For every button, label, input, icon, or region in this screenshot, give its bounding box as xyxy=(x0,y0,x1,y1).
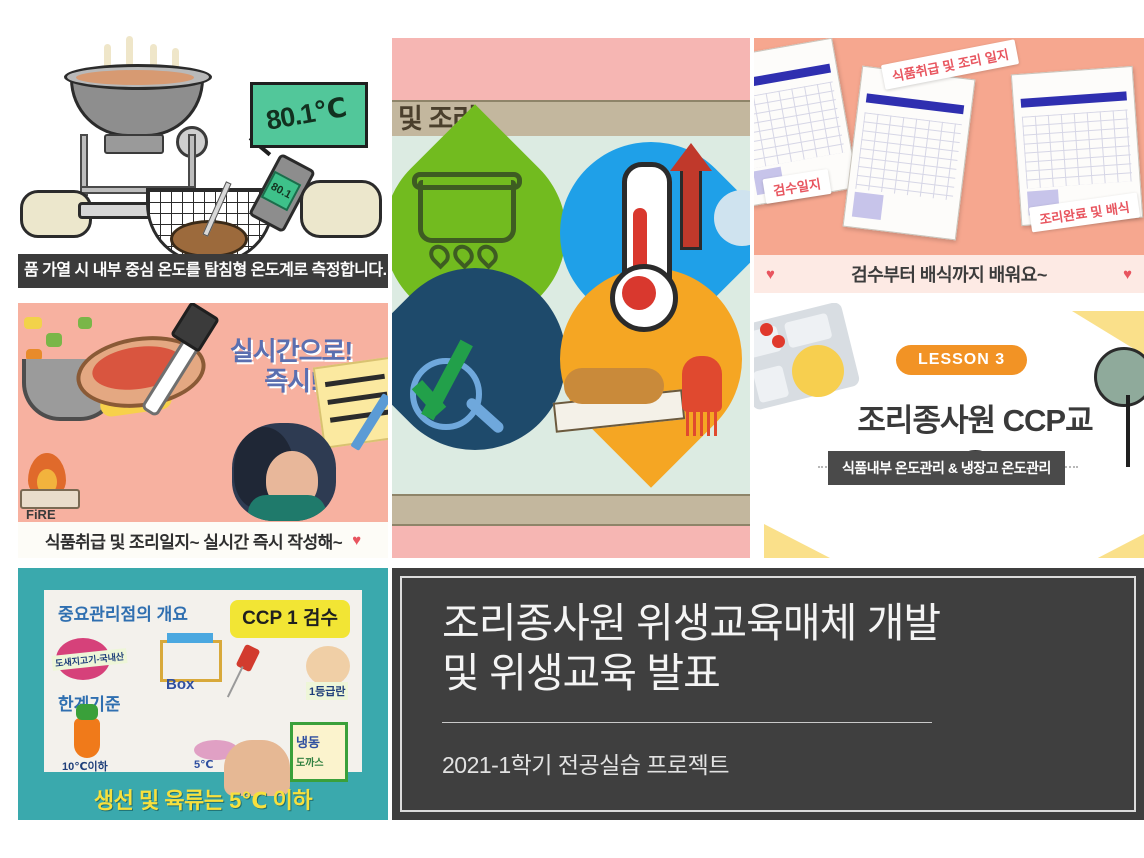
document-table-rows xyxy=(855,112,962,200)
panel-thermometer-illustration: 80.1 80.1℃ 품 가열 시 내부 중심 온도를 탐침형 온도계로 측정합… xyxy=(18,30,388,288)
dress-shape xyxy=(248,495,326,521)
carrot-icon xyxy=(74,718,100,758)
poster-note-box: Box xyxy=(166,676,194,693)
document-note-block xyxy=(852,191,884,220)
document-table-rows xyxy=(754,81,845,168)
tray-cell xyxy=(784,313,833,349)
title-divider xyxy=(442,722,932,723)
heart-icon: ♥ xyxy=(352,532,361,549)
panel-realtime-log: 실시간으로! 즉시! FiRE 식품취급 및 조리일지~ 실시간 즉시 작성해~… xyxy=(18,303,388,558)
page-title: 조리종사원 위생교육매체 개발 및 위생교육 발표 xyxy=(442,598,1102,698)
panel-documents: 식품취급 및 조리 일지 검수일지 조리완료 및 배식 ♥ 검수부터 배식까지 … xyxy=(754,38,1144,293)
poster-note-grade1-egg: 1등급란 xyxy=(306,682,348,700)
heart-icon: ♥ xyxy=(1123,266,1132,283)
tomato-icon xyxy=(772,335,785,348)
poster-note-temp-10: 10℃이하 xyxy=(62,758,108,774)
frozen-pack-icon xyxy=(290,722,348,782)
panel-center-graphic: 및 조리 xyxy=(392,38,750,558)
document-table-rows xyxy=(1022,109,1132,188)
tomato-icon xyxy=(760,323,773,336)
fire-label: FiRE xyxy=(26,507,56,522)
page-subtitle: 2021-1학기 전공실습 프로젝트 xyxy=(442,746,729,780)
panel-caption-text: 식품취급 및 조리일지~ 실시간 즉시 작성해~ xyxy=(45,528,342,553)
steaming-pot-icon xyxy=(418,180,516,243)
memo-line xyxy=(325,374,385,387)
poster-heading: 중요관리점의 개요 xyxy=(58,600,188,625)
sage-pan-icon xyxy=(1094,347,1144,407)
panel-handwritten-poster: 중요관리점의 개요 CCP 1 검수 도새지고기-국내산 Box 1등급란 한계… xyxy=(18,568,388,820)
center-header-text: 및 조리 xyxy=(392,102,750,136)
page-title-line-2: 및 위생교육 발표 xyxy=(442,648,1102,698)
document-sheet xyxy=(843,66,976,241)
panel-lesson3: LESSON 3 조리종사원 CCP교육 식품내부 온도관리 & 냉장고 온도관… xyxy=(754,303,1144,558)
title-card: 조리종사원 위생교육매체 개발 및 위생교육 발표 2021-1학기 전공실습 … xyxy=(392,568,1144,820)
page-title-line-1: 조리종사원 위생교육매체 개발 xyxy=(442,598,1102,648)
sage-pan-handle-icon xyxy=(1126,395,1130,467)
center-footer-bar xyxy=(392,494,750,526)
document-header-row xyxy=(866,93,965,114)
panel-caption-bar: 품 가열 시 내부 중심 온도를 탐침형 온도계로 측정합니다. xyxy=(18,254,388,288)
panel-caption-bar: 식품취급 및 조리일지~ 실시간 즉시 작성해~ ♥ xyxy=(18,522,388,558)
vegetable-piece-icon xyxy=(78,317,92,329)
balloon-line-1: 실시간으로! xyxy=(226,337,356,367)
ccp-tag-text: CCP 1 검수 xyxy=(230,600,350,638)
soup-surface-icon xyxy=(76,70,194,85)
vegetable-piece-icon xyxy=(46,333,62,347)
heart-icon: ♥ xyxy=(766,266,775,283)
squid-icon xyxy=(682,356,722,412)
ccp-tag: CCP 1 검수 xyxy=(230,600,350,638)
up-arrow-icon xyxy=(680,166,702,250)
person-photo xyxy=(232,423,336,521)
panel-caption-bar: 생선 및 육류는 5℃ 이하 xyxy=(18,778,388,820)
poster-board: 중요관리점의 개요 CCP 1 검수 도새지고기-국내산 Box 1등급란 한계… xyxy=(44,590,362,772)
panel-caption-text: 품 가열 시 내부 중심 온도를 탐침형 온도계로 측정합니다. xyxy=(18,254,388,288)
fried-food-icon xyxy=(564,368,664,404)
poster-note-temp-5: 5℃ xyxy=(194,758,213,771)
cooking-thermometer-artwork: 80.1 80.1℃ xyxy=(18,30,388,288)
lesson-subtitle: 식품내부 온도관리 & 냉장고 온도관리 xyxy=(828,451,1065,485)
check-mark-icon xyxy=(422,328,480,430)
tray-cell xyxy=(754,365,789,403)
slide-canvas: 80.1 80.1℃ 품 가열 시 내부 중심 온도를 탐침형 온도계로 측정합… xyxy=(0,0,1144,858)
thermometer-bulb-fill-icon xyxy=(622,276,656,310)
vegetable-piece-icon xyxy=(24,317,42,329)
lesson-badge: LESSON 3 xyxy=(896,345,1027,375)
burner-icon xyxy=(104,134,164,154)
corner-triangle-decor xyxy=(1094,534,1144,558)
document-header-row xyxy=(1021,91,1127,107)
panel-caption-text: 생선 및 육류는 5℃ 이하 xyxy=(94,783,312,815)
poster-note-cutlet: 도까스 xyxy=(296,754,324,769)
gloved-hand-icon xyxy=(300,180,382,238)
corner-triangle-decor xyxy=(764,524,830,558)
panel-caption-text: 검수부터 배식까지 배워요~ xyxy=(851,261,1047,287)
poster-note-frozen: 냉동 xyxy=(296,732,320,751)
stove-icon xyxy=(20,489,80,509)
egg-icon xyxy=(306,646,350,686)
panel-caption-bar: ♥ 검수부터 배식까지 배워요~ ♥ xyxy=(754,255,1144,293)
red-thermometer-icon xyxy=(236,644,261,673)
